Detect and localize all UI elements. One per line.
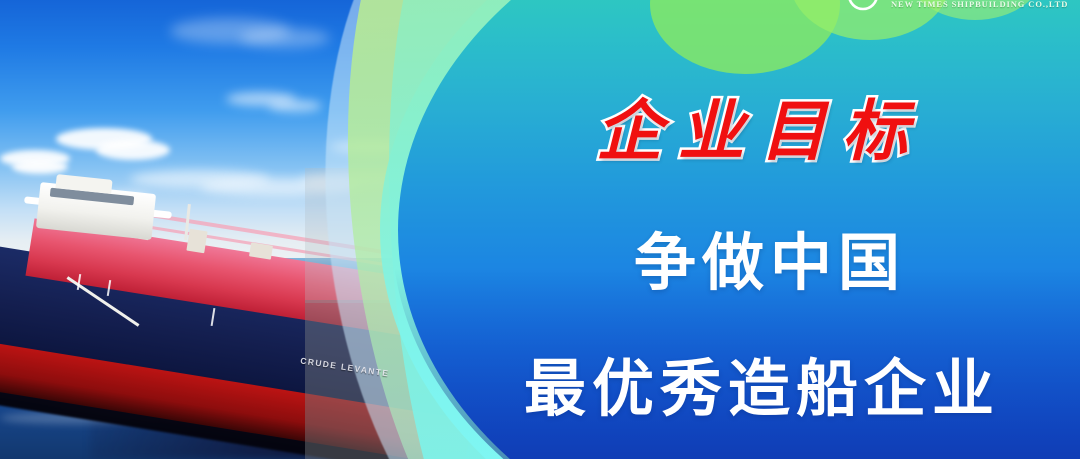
new-times-shipbuilding-logo-icon <box>846 0 880 12</box>
cloud-icon <box>268 100 322 112</box>
logo-company-name-en: NEW TIMES SHIPBUILDING CO.,LTD <box>891 0 1068 9</box>
page-title: 企业目标 <box>596 78 924 174</box>
enterprise-goal-banner: CRUDE LEVANTE 新时代造船 NEW TIMES SHIPBUILDI… <box>0 0 1080 459</box>
slogan-line-1: 争做中国 <box>634 212 906 302</box>
cloud-icon <box>12 160 68 174</box>
deck-structure <box>186 229 207 254</box>
company-logo[interactable]: 新时代造船 NEW TIMES SHIPBUILDING CO.,LTD <box>838 0 1078 18</box>
cloud-icon <box>240 28 330 48</box>
slogan-line-2: 最优秀造船企业 <box>524 338 1000 428</box>
cloud-icon <box>96 140 170 160</box>
